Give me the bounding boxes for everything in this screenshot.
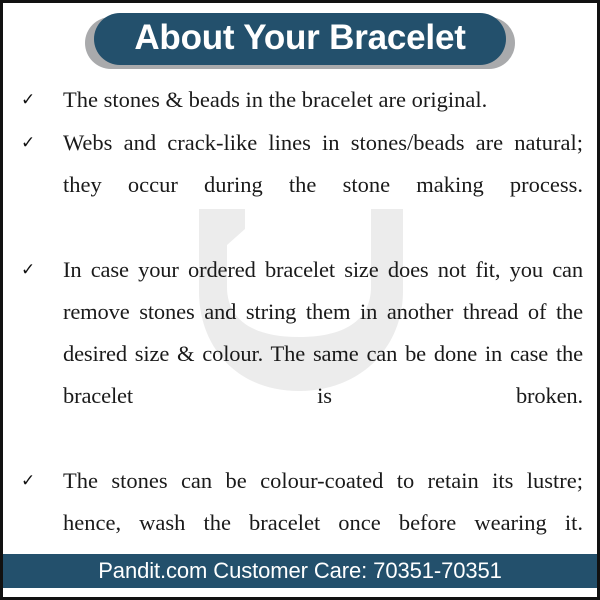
header: About Your Bracelet [3, 3, 597, 75]
about-your-bracelet-card: About Your Bracelet ✓ The stones & beads… [0, 0, 600, 600]
list-item: ✓ Webs and crack-like lines in stones/be… [17, 122, 583, 248]
list-item-text: In case your ordered bracelet size does … [63, 249, 583, 459]
list-item: ✓ In case your ordered bracelet size doe… [17, 249, 583, 459]
page-title: About Your Bracelet [94, 13, 505, 65]
check-icon: ✓ [17, 249, 63, 291]
title-pill-stack: About Your Bracelet [94, 13, 505, 65]
list-item-text: The stones & beads in the bracelet are o… [63, 79, 583, 121]
footer-bar: Pandit.com Customer Care: 70351-70351 [3, 554, 597, 588]
check-icon: ✓ [17, 79, 63, 121]
list-item: ✓ The stones & beads in the bracelet are… [17, 79, 583, 121]
check-icon: ✓ [17, 122, 63, 164]
customer-care-text: Pandit.com Customer Care: 70351-70351 [98, 558, 502, 584]
check-icon: ✓ [17, 460, 63, 502]
bullet-list: ✓ The stones & beads in the bracelet are… [3, 75, 597, 586]
list-item-text: Webs and crack-like lines in stones/bead… [63, 122, 583, 248]
